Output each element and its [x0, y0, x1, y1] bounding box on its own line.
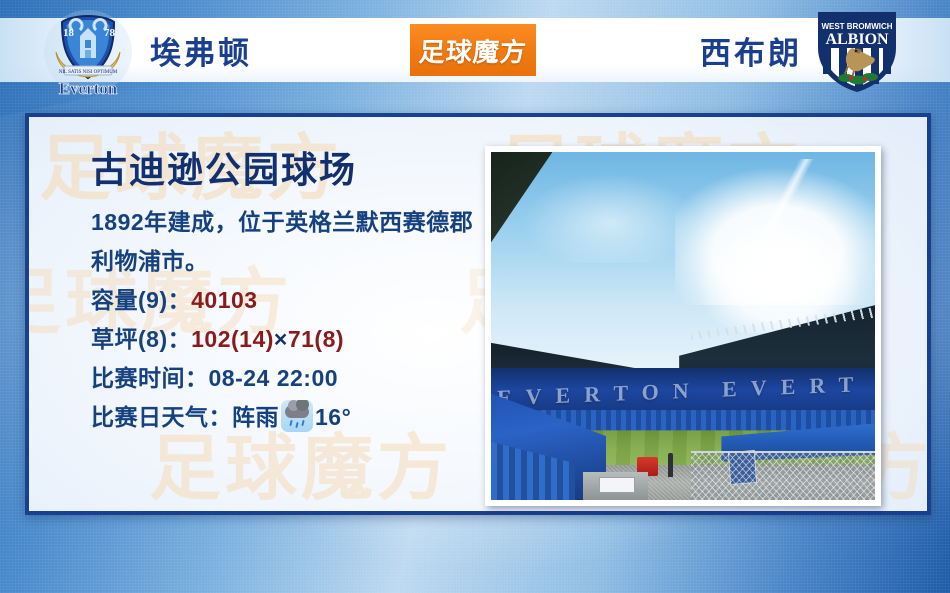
temperature-value: 16°: [315, 404, 351, 430]
svg-text:Everton: Everton: [59, 79, 118, 98]
capacity-row: 容量(9)：40103: [91, 281, 491, 320]
pitch-row: 草坪(8)：102(14)×71(8): [91, 320, 491, 359]
stadium-info-list: 1892年建成，位于英格兰默西赛德郡利物浦市。 容量(9)：40103 草坪(8…: [91, 203, 491, 437]
brand-logo[interactable]: 足球魔方: [410, 24, 536, 76]
kickoff-label: 比赛时间：: [91, 365, 209, 391]
shower-rain-icon: [281, 400, 313, 432]
kickoff-row: 比赛时间：08-24 22:00: [91, 359, 491, 398]
pitch-label: 草坪(8)：: [91, 326, 191, 352]
weather-row: 比赛日天气：阵雨16°: [91, 398, 491, 437]
stadium-title: 古迪逊公园球场: [91, 141, 357, 193]
pitch-width-value: 71(8): [288, 326, 344, 352]
pitch-length-value: 102(14): [191, 326, 274, 352]
match-stadium-card: 18 78 NIL SATIS NISI OPTIMUM Everton 埃弗顿…: [0, 0, 950, 593]
weather-value: 阵雨: [232, 404, 279, 430]
weather-label: 比赛日天气：: [91, 404, 232, 430]
photo-cloud: [522, 173, 699, 263]
capacity-value: 40103: [191, 287, 257, 313]
photo-notice-sign: [599, 477, 636, 493]
west-bromwich-albion-crest-icon: WEST BROMWICH ALBION: [812, 8, 902, 96]
header: 18 78 NIL SATIS NISI OPTIMUM Everton 埃弗顿…: [0, 0, 950, 100]
stadium-photo-frame: EVERTON EVERT: [485, 146, 881, 506]
home-team-name: 埃弗顿: [150, 28, 252, 73]
capacity-label: 容量(9)：: [91, 287, 191, 313]
brand-logo-text: 足球魔方: [418, 32, 529, 69]
svg-text:78: 78: [104, 27, 116, 39]
kickoff-value: 08-24 22:00: [209, 365, 339, 391]
everton-crest-icon: 18 78 NIL SATIS NISI OPTIMUM Everton: [42, 6, 134, 98]
goodison-park-photo: EVERTON EVERT: [491, 152, 875, 500]
svg-text:NIL SATIS NISI OPTIMUM: NIL SATIS NISI OPTIMUM: [59, 70, 118, 75]
svg-text:18: 18: [63, 27, 75, 39]
svg-text:WEST BROMWICH: WEST BROMWICH: [821, 22, 892, 31]
svg-text:ALBION: ALBION: [825, 31, 889, 48]
photo-post: [668, 453, 673, 477]
photo-mesh-fence: [691, 451, 875, 500]
pitch-separator: ×: [274, 326, 288, 352]
away-team-name: 西布朗: [700, 28, 802, 73]
stadium-description: 1892年建成，位于英格兰默西赛德郡利物浦市。: [91, 203, 491, 281]
